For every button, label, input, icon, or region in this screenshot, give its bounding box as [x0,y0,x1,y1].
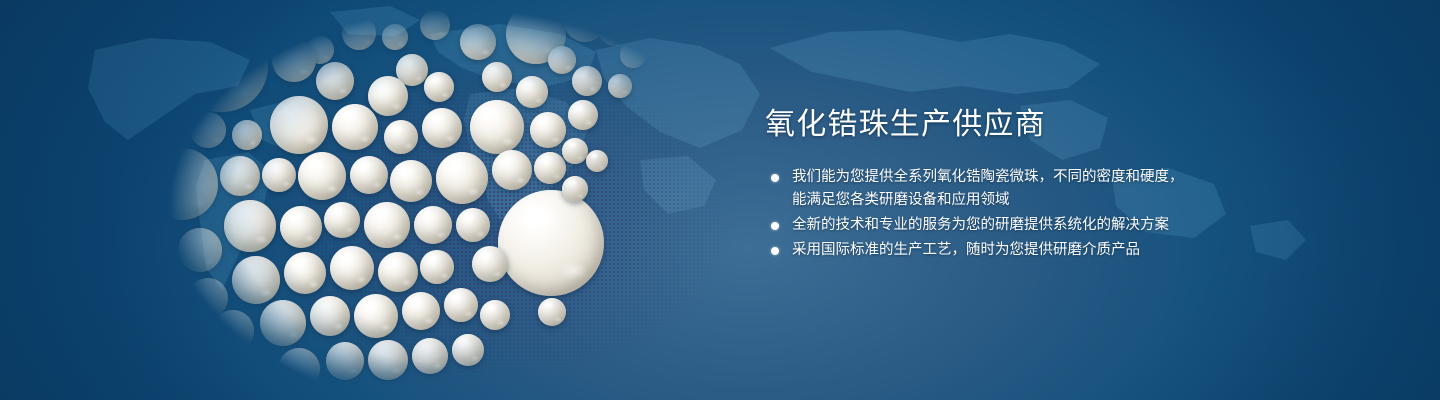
bullet-1-line-2: 能满足您各类研磨设备和应用领域 [792,189,1235,212]
bullet-item-2: 全新的技术和专业的服务为您的研磨提供系统化的解决方案 [765,214,1235,237]
bullet-3-line-1: 采用国际标准的生产工艺，随时为您提供研磨介质产品 [792,239,1235,262]
hero-banner: 氧化锆珠生产供应商 我们能为您提供全系列氧化锆陶瓷微珠，不同的密度和硬度， 能满… [0,0,1440,400]
dot-bullet-icon [771,247,779,255]
banner-headline: 氧化锆珠生产供应商 [765,106,1235,144]
bullet-1-line-1: 我们能为您提供全系列氧化锆陶瓷微珠，不同的密度和硬度， [792,166,1235,189]
banner-text-block: 氧化锆珠生产供应商 我们能为您提供全系列氧化锆陶瓷微珠，不同的密度和硬度， 能满… [765,106,1235,264]
bullet-item-3: 采用国际标准的生产工艺，随时为您提供研磨介质产品 [765,239,1235,262]
bullet-2-line-1: 全新的技术和专业的服务为您的研磨提供系统化的解决方案 [792,214,1235,237]
dot-bullet-icon [771,222,779,230]
banner-bullet-list: 我们能为您提供全系列氧化锆陶瓷微珠，不同的密度和硬度， 能满足您各类研磨设备和应… [765,166,1235,262]
bullet-item-1: 我们能为您提供全系列氧化锆陶瓷微珠，不同的密度和硬度， 能满足您各类研磨设备和应… [765,166,1235,212]
dot-bullet-icon [771,174,779,182]
